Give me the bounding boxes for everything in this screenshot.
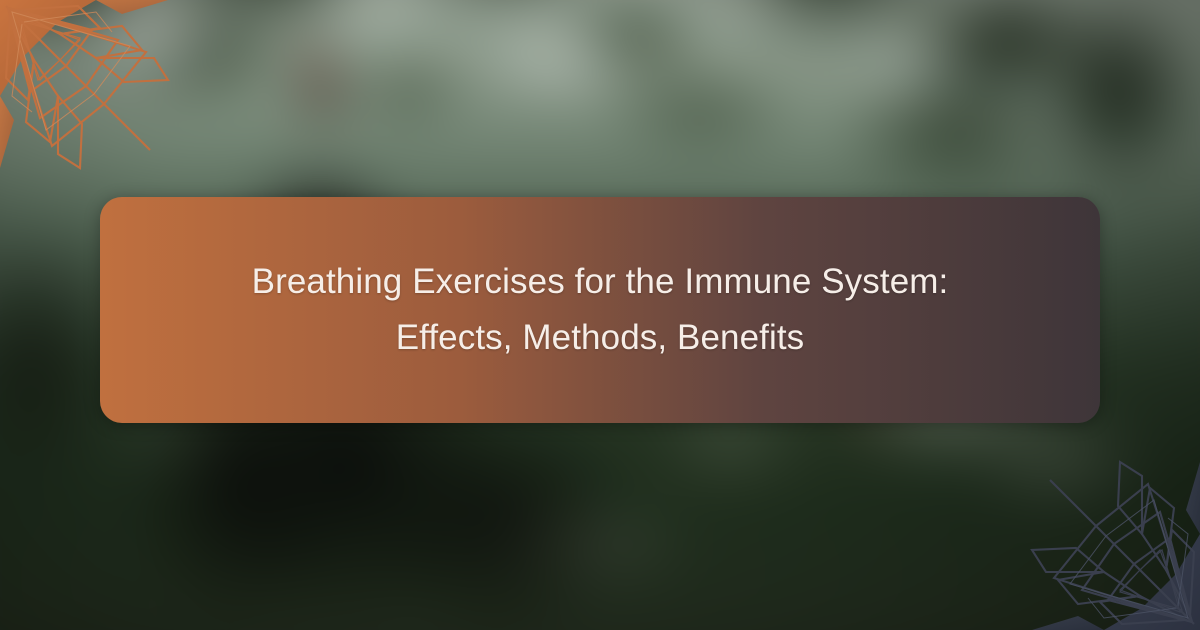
page-title-line-2: Effects, Methods, Benefits (160, 310, 1040, 366)
page-title-line-1: Breathing Exercises for the Immune Syste… (252, 262, 949, 301)
title-banner: Breathing Exercises for the Immune Syste… (100, 197, 1100, 423)
corner-ornament-top-left-icon (0, 0, 190, 190)
social-share-card: Breathing Exercises for the Immune Syste… (0, 0, 1200, 630)
page-title: Breathing Exercises for the Immune Syste… (160, 254, 1040, 366)
corner-ornament-bottom-right-icon (1010, 440, 1200, 630)
